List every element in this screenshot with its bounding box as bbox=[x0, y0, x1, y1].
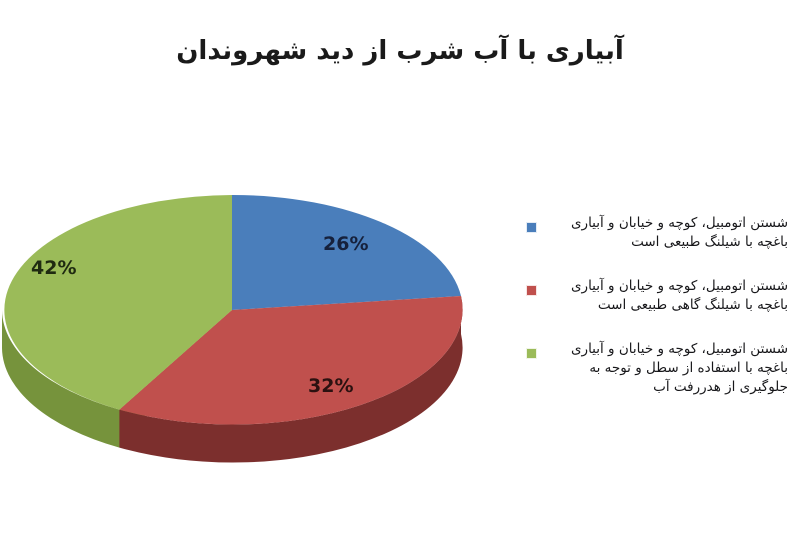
chart-title: آبیاری با آب شرب از دید شهروندان bbox=[0, 34, 800, 68]
legend-swatch-blue-icon bbox=[526, 222, 537, 233]
legend-item-3-line2: باغچه با استفاده از سطل و توجه به bbox=[534, 359, 794, 378]
legend-item-3[interactable]: شستن اتومبیل، کوچه و خیابان و آبیاری باغ… bbox=[508, 340, 794, 397]
legend-item-2-line2: باغچه با شیلنگ گاهی طبیعی است bbox=[534, 296, 794, 315]
legend-item-2-line1: شستن اتومبیل، کوچه و خیابان و آبیاری bbox=[534, 277, 794, 296]
slice-value-label-red: 32% bbox=[308, 375, 353, 397]
legend-item-1-line1: شستن اتومبیل، کوچه و خیابان و آبیاری bbox=[534, 214, 794, 233]
pie-plot-area: 26% 32% 42% bbox=[0, 170, 500, 490]
pie-svg bbox=[0, 170, 500, 490]
slice-value-label-green: 42% bbox=[31, 257, 76, 279]
legend-item-1-line2: باغچه با شیلنگ طبیعی است bbox=[534, 233, 794, 252]
legend-item-3-line1: شستن اتومبیل، کوچه و خیابان و آبیاری bbox=[534, 340, 794, 359]
legend-swatch-red-icon bbox=[526, 285, 537, 296]
chart-legend: شستن اتومبیل، کوچه و خیابان و آبیاری باغ… bbox=[508, 214, 794, 422]
slice-value-label-blue: 26% bbox=[323, 233, 368, 255]
pie-chart-figure: آبیاری با آب شرب از دید شهروندان bbox=[0, 0, 800, 557]
legend-item-1[interactable]: شستن اتومبیل، کوچه و خیابان و آبیاری باغ… bbox=[508, 214, 794, 252]
legend-item-2[interactable]: شستن اتومبیل، کوچه و خیابان و آبیاری باغ… bbox=[508, 277, 794, 315]
legend-swatch-green-icon bbox=[526, 348, 537, 359]
legend-item-3-line3: جلوگیری از هدررفت آب bbox=[534, 378, 794, 397]
